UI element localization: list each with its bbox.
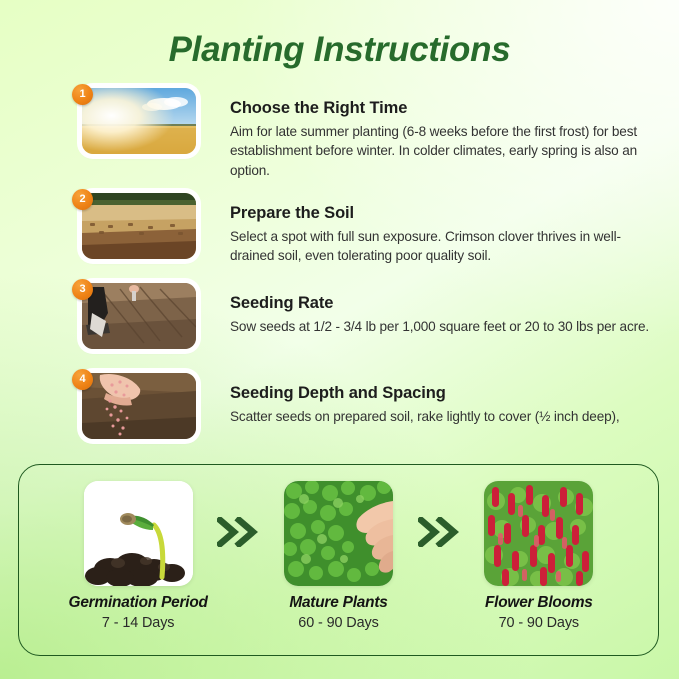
step-text: Prepare the Soil Select a spot with full… — [230, 193, 664, 266]
step-text: Seeding Rate Sow seeds at 1/2 - 3/4 lb p… — [230, 283, 664, 336]
timeline-stage: Flower Blooms 70 - 90 Days — [462, 481, 616, 631]
seedling-sprout-photo — [84, 481, 193, 586]
step-title: Seeding Rate — [230, 294, 664, 313]
double-chevron-right-icon — [215, 517, 261, 547]
step-text: Seeding Depth and Spacing Scatter seeds … — [230, 373, 664, 426]
step-item: 2 — [72, 193, 664, 270]
growth-timeline: Germination Period 7 - 14 Days — [19, 465, 658, 655]
step-description: Scatter seeds on prepared soil, rake lig… — [230, 407, 664, 426]
stage-duration: 7 - 14 Days — [61, 615, 215, 631]
step-title: Seeding Depth and Spacing — [230, 384, 664, 403]
step-number-badge: 4 — [72, 369, 93, 390]
stage-label: Mature Plants — [261, 594, 415, 612]
step-thumbnail-wrap: 3 — [72, 283, 196, 349]
step-title: Prepare the Soil — [230, 204, 664, 223]
boot-tilled-soil-photo — [82, 283, 196, 349]
step-description: Sow seeds at 1/2 - 3/4 lb per 1,000 squa… — [230, 317, 664, 336]
step-number-badge: 1 — [72, 84, 93, 105]
stage-duration: 60 - 90 Days — [261, 615, 415, 631]
step-thumbnail-wrap: 4 — [72, 373, 196, 439]
planting-instructions-infographic: Planting Instructions 1 — [0, 0, 679, 679]
timeline-stage: Mature Plants 60 - 90 Days — [261, 481, 415, 631]
stage-label: Germination Period — [61, 594, 215, 612]
step-text: Choose the Right Time Aim for late summe… — [230, 88, 664, 180]
stage-label: Flower Blooms — [462, 594, 616, 612]
crimson-clover-blooms-photo — [484, 481, 593, 586]
stage-duration: 70 - 90 Days — [462, 615, 616, 631]
timeline-stage: Germination Period 7 - 14 Days — [61, 481, 215, 631]
step-item: 3 — [72, 283, 664, 360]
wheat-field-sunrise-photo — [82, 88, 196, 154]
step-item: 1 — [72, 88, 664, 180]
step-item: 4 — [72, 373, 664, 450]
step-description: Select a spot with full sun exposure. Cr… — [230, 227, 664, 266]
hand-scattering-seeds-photo — [82, 373, 196, 439]
clover-foliage-hand-photo — [284, 481, 393, 586]
step-number-badge: 2 — [72, 189, 93, 210]
steps-list: 1 — [72, 88, 664, 463]
page-title: Planting Instructions — [0, 30, 679, 70]
step-number-badge: 3 — [72, 279, 93, 300]
step-title: Choose the Right Time — [230, 99, 664, 118]
growth-timeline-box: Germination Period 7 - 14 Days — [18, 464, 659, 656]
double-chevron-right-icon — [416, 517, 462, 547]
step-description: Aim for late summer planting (6-8 weeks … — [230, 122, 664, 180]
plowed-field-photo — [82, 193, 196, 259]
step-thumbnail-wrap: 2 — [72, 193, 196, 259]
step-thumbnail-wrap: 1 — [72, 88, 196, 154]
